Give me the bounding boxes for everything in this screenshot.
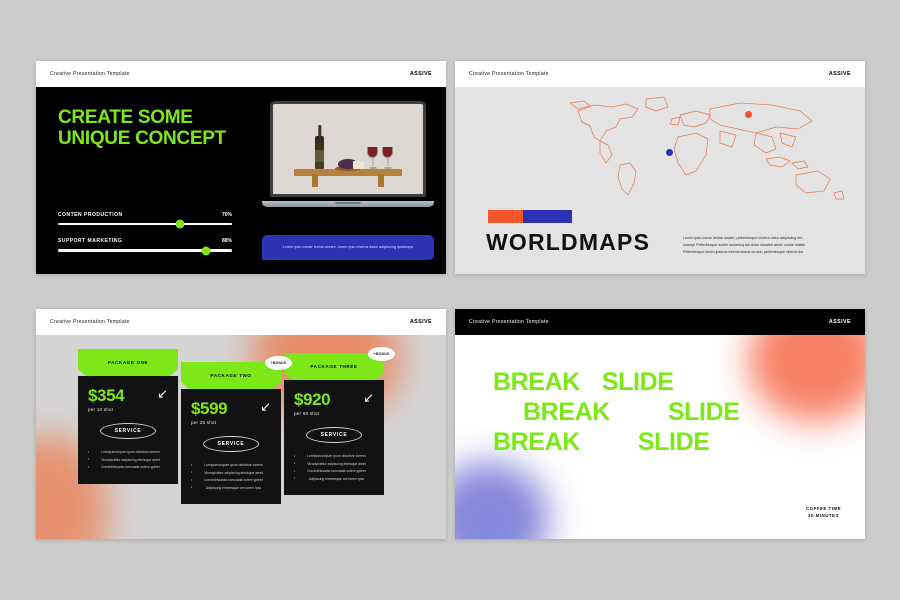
card-body: $354 ↙ per 10 shot SERVICE Loreipumonipu…: [78, 376, 178, 484]
laptop-mockup-image: [262, 101, 434, 207]
package-name: PACKAGE THREE: [310, 364, 357, 369]
list-item: Vivanyictetur adipiscing etmisque amet: [294, 461, 374, 469]
break-headline-group: BREAK SLIDE BREAK SLIDE BREAK SLIDE: [455, 367, 865, 457]
feature-list: Loreipumonipum ipum dolorbue lorems Viva…: [191, 462, 271, 492]
feature-list: Loreipumonipum ipum dolorbue lorems Viva…: [294, 453, 374, 483]
slider-track[interactable]: [58, 249, 232, 252]
arrow-down-left-icon: ↙: [157, 387, 168, 400]
slider-label: CONTEN PRODUCTION: [58, 212, 123, 218]
card-header: PACKAGE ONE: [78, 349, 178, 376]
slider-knob[interactable]: [201, 246, 210, 255]
card-body: $920 ↙ per 60 shot SERVICE Loreipumonipu…: [284, 380, 384, 495]
package-price: $599: [191, 400, 227, 417]
service-button-label: SERVICE: [321, 432, 348, 438]
slider-label: SUPPORT MARKETING: [58, 238, 122, 244]
break-word: BREAK: [493, 367, 580, 397]
wine-table-photo: [273, 104, 423, 194]
hero-headline-line1: CREATE SOME: [58, 107, 254, 128]
slide-break[interactable]: Creative Presentation Template ASSIVE BR…: [455, 309, 865, 539]
slider-knob[interactable]: [175, 220, 184, 229]
pricing-body: PACKAGE ONE $354 ↙ per 10 shot SERVICE L…: [36, 335, 446, 539]
wine-glass: [382, 147, 393, 169]
pricing-cards: PACKAGE ONE $354 ↙ per 10 shot SERVICE L…: [78, 349, 384, 504]
package-name: PACKAGE TWO: [210, 373, 251, 378]
list-item: Adipiscing elmnesque ore lorem ipsu: [191, 485, 271, 493]
header-title: Creative Presentation Template: [469, 319, 549, 325]
brand-logo: ASSIVE: [410, 319, 432, 325]
hero-cta-label: Lorem ipsu conse lectus ornare, lorem ip…: [283, 245, 414, 250]
list-item: Condvitrisuada consuada sotem ypteer: [294, 468, 374, 476]
slide-worldmaps[interactable]: Creative Presentation Template ASSIVE: [455, 61, 865, 274]
package-price: $920: [294, 391, 330, 408]
paragraph-line: Lorem ipsu conse lectus ornare, pellente…: [683, 235, 831, 242]
map-marker-orange[interactable]: [745, 111, 752, 118]
bonus-badge-label: +BONUS: [271, 361, 286, 365]
header-title: Creative Presentation Template: [469, 71, 549, 77]
arrow-down-left-icon: ↙: [260, 400, 271, 413]
worldmaps-title: WORLDMAPS: [486, 229, 650, 256]
slide-header: Creative Presentation Template ASSIVE: [455, 309, 865, 335]
list-item: Loreipumonipum ipum dolorbue lorems: [294, 453, 374, 461]
list-item: Condvitrisuada consuada sotem ypteer: [88, 464, 168, 472]
slide-header: Creative Presentation Template ASSIVE: [36, 309, 446, 335]
card-body: $599 ↙ per 25 shot SERVICE Loreipumonipu…: [181, 389, 281, 504]
worldmaps-paragraph: Lorem ipsu conse lectus ornare, pellente…: [683, 235, 831, 256]
slider-conten-production[interactable]: CONTEN PRODUCTION 70%: [58, 212, 232, 226]
worldmaps-caption: WORLDMAPS Lorem ipsu conse lectus ornare…: [455, 202, 865, 274]
coffee-note-line2: 30 MINUTES: [806, 512, 841, 519]
bonus-badge-label: +BONUS: [374, 352, 389, 356]
hero-right-column: Lorem ipsu conse lectus ornare, lorem ip…: [254, 87, 446, 274]
slide-word: SLIDE: [668, 397, 740, 427]
pricing-card[interactable]: +BONUS PACKAGE TWO $599 ↙ per 25 shot SE…: [181, 362, 281, 504]
package-name: PACKAGE ONE: [108, 360, 148, 365]
world-map: [560, 93, 860, 205]
service-button[interactable]: SERVICE: [100, 423, 156, 439]
slide-header: Creative Presentation Template ASSIVE: [36, 61, 446, 87]
hero-body: CREATE SOME UNIQUE CONCEPT CONTEN PRODUC…: [36, 87, 446, 274]
slide-word: SLIDE: [638, 427, 710, 457]
service-button-label: SERVICE: [115, 428, 142, 434]
package-per: per 10 shot: [88, 407, 168, 412]
break-body: BREAK SLIDE BREAK SLIDE BREAK SLIDE COFF…: [455, 335, 865, 539]
pricing-card[interactable]: PACKAGE ONE $354 ↙ per 10 shot SERVICE L…: [78, 349, 178, 484]
header-title: Creative Presentation Template: [50, 319, 130, 325]
hero-headline-line2: UNIQUE CONCEPT: [58, 128, 254, 149]
list-item: Loreipumonipum ipum dolorbue lorems: [191, 462, 271, 470]
slider-value: 70%: [222, 212, 232, 218]
package-per: per 25 shot: [191, 420, 271, 425]
service-button-label: SERVICE: [218, 441, 245, 447]
paragraph-line: Pellentesque lorem ipsuma lorems lectus …: [683, 249, 831, 256]
pricing-card[interactable]: +BONUS PACKAGE THREE $920 ↙ per 60 shot …: [284, 353, 384, 495]
list-item: Vivanyictetur adipiscing etmisque amet: [191, 470, 271, 478]
wine-bottle: [315, 136, 324, 169]
break-headline-row: BREAK SLIDE: [455, 427, 865, 457]
hero-cta-button[interactable]: Lorem ipsu conse lectus ornare, lorem ip…: [262, 235, 434, 260]
slider-support-marketing[interactable]: SUPPORT MARKETING 88%: [58, 238, 232, 252]
break-headline-row: BREAK SLIDE: [455, 367, 865, 397]
gradient-blob-blue: [455, 462, 549, 539]
break-word: BREAK: [493, 427, 580, 457]
bonus-badge: +BONUS: [265, 356, 292, 370]
list-item: Condvitrisuada consuada sotem ypteer: [191, 477, 271, 485]
list-item: Loreipumonipum ipum dolorbus lorems: [88, 449, 168, 457]
service-button[interactable]: SERVICE: [203, 436, 259, 452]
package-price: $354: [88, 387, 124, 404]
slide-word: SLIDE: [602, 367, 674, 397]
list-item: Adipiscing elmnesque ore lorem ipsu: [294, 476, 374, 484]
break-headline-row: BREAK SLIDE: [455, 397, 865, 427]
worldmaps-body: WORLDMAPS Lorem ipsu conse lectus ornare…: [455, 87, 865, 274]
slider-track[interactable]: [58, 223, 232, 226]
paragraph-line: lorempi Pellentesque sceler scelerisq do…: [683, 242, 831, 249]
slide-hero[interactable]: Creative Presentation Template ASSIVE CR…: [36, 61, 446, 274]
color-bar-orange: [488, 210, 523, 223]
map-marker-blue[interactable]: [666, 149, 673, 156]
service-button[interactable]: SERVICE: [306, 427, 362, 443]
slider-value: 88%: [222, 238, 232, 244]
brand-logo: ASSIVE: [410, 71, 432, 77]
color-bar-blue: [523, 210, 572, 223]
cheese: [353, 161, 364, 169]
slide-header: Creative Presentation Template ASSIVE: [455, 61, 865, 87]
arrow-down-left-icon: ↙: [363, 391, 374, 404]
list-item: Vivanyictetur adipiscing etmisque amet: [88, 457, 168, 465]
slide-pricing[interactable]: Creative Presentation Template ASSIVE PA…: [36, 309, 446, 539]
feature-list: Loreipumonipum ipum dolorbus lorems Viva…: [88, 449, 168, 472]
color-bar: [488, 210, 572, 223]
package-per: per 60 shot: [294, 411, 374, 416]
coffee-note-line1: COFFEE TIME: [806, 505, 841, 512]
hero-sliders: CONTEN PRODUCTION 70% SUPPORT MARKETING …: [58, 212, 232, 252]
wine-glass: [367, 147, 378, 169]
header-title: Creative Presentation Template: [50, 71, 130, 77]
brand-logo: ASSIVE: [829, 71, 851, 77]
slides-canvas: Creative Presentation Template ASSIVE CR…: [0, 0, 900, 600]
bonus-badge: +BONUS: [368, 347, 395, 361]
break-word: BREAK: [523, 397, 610, 427]
hero-left-column: CREATE SOME UNIQUE CONCEPT CONTEN PRODUC…: [36, 87, 254, 274]
coffee-break-note: COFFEE TIME 30 MINUTES: [806, 505, 841, 519]
brand-logo: ASSIVE: [829, 319, 851, 325]
